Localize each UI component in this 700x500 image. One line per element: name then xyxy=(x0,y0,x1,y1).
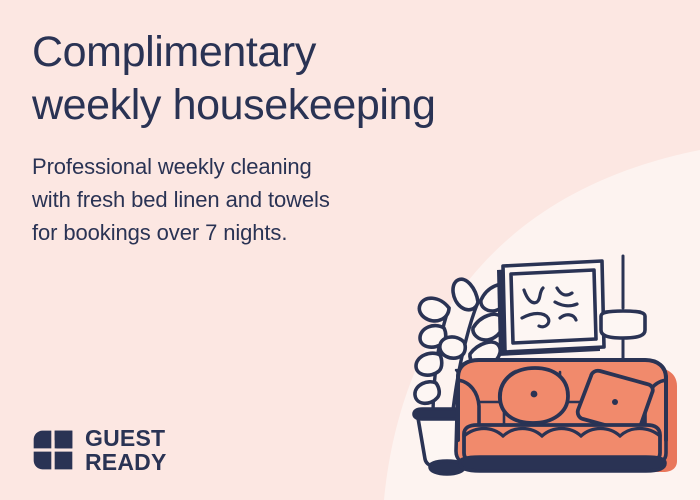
brand-word-top: GUEST xyxy=(85,426,167,450)
brand-word-bottom: READY xyxy=(85,450,167,474)
page-title: Complimentary weekly housekeeping xyxy=(32,26,462,132)
page-subtitle: Professional weekly cleaning with fresh … xyxy=(32,150,462,249)
brand-wordmark: GUEST READY xyxy=(85,426,167,474)
brand-logo: GUEST READY xyxy=(32,426,167,474)
sofa-icon xyxy=(456,360,677,472)
living-room-illustration xyxy=(400,250,700,500)
pendant-lamp-icon xyxy=(601,256,645,358)
promo-card: Complimentary weekly housekeeping Profes… xyxy=(0,0,700,500)
framed-wall-art-icon xyxy=(497,261,604,356)
guestready-quadrant-mark-icon xyxy=(32,429,74,471)
text-block: Complimentary weekly housekeeping Profes… xyxy=(32,26,462,249)
